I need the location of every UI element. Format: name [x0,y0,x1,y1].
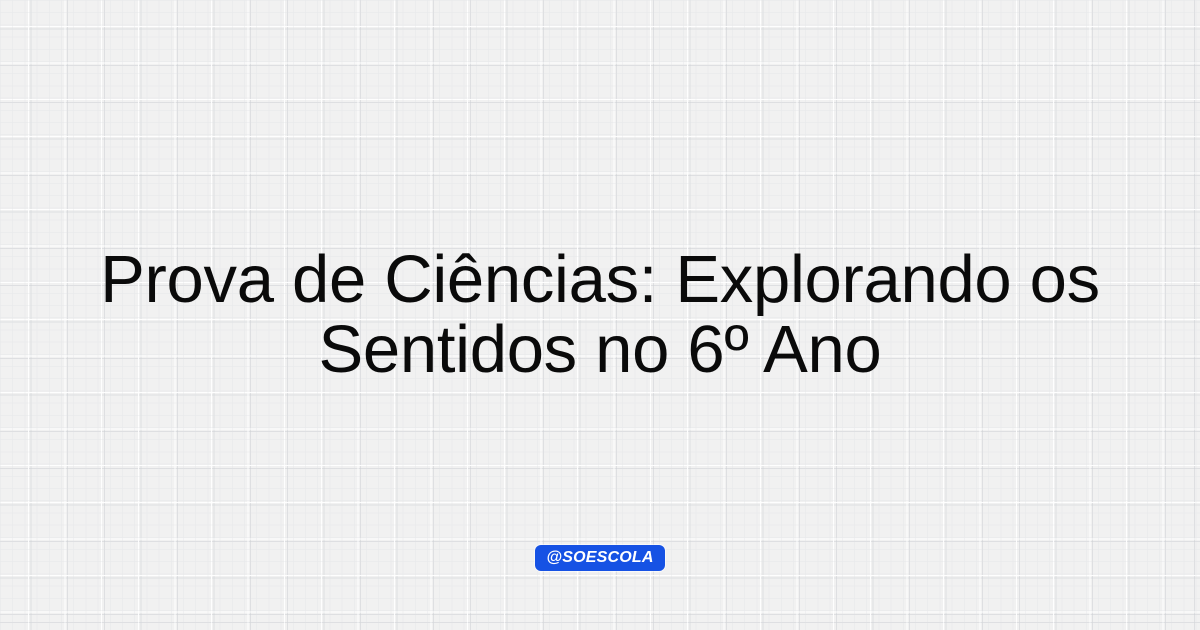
share-card: Prova de Ciências: Explorando os Sentido… [0,0,1200,630]
page-title: Prova de Ciências: Explorando os Sentido… [0,245,1200,384]
card-content: Prova de Ciências: Explorando os Sentido… [0,0,1200,630]
